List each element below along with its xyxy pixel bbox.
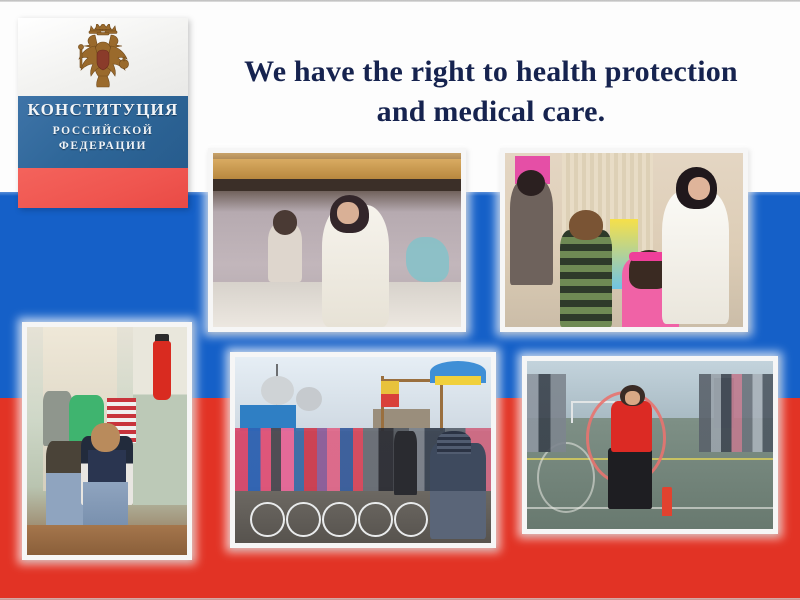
- right-spectators: [699, 374, 773, 451]
- bicycle-wheel: [358, 502, 393, 538]
- foreground-child-jacket: [430, 443, 486, 540]
- boy-head: [569, 210, 602, 240]
- child-grey-top: [43, 391, 72, 446]
- fire-extinguisher-icon: [153, 341, 171, 400]
- photo-children-exercising-hallway: [22, 322, 192, 560]
- background-woman: [510, 181, 553, 285]
- decorative-arch-banner: [435, 376, 481, 385]
- doctor-face: [688, 177, 709, 200]
- front-boy-head: [91, 423, 120, 453]
- bicycle-wheel: [322, 502, 357, 538]
- training-cone: [662, 487, 672, 516]
- slide-title: We have the right to health protection a…: [186, 52, 796, 131]
- photo-children-exercising-hallway-content: [27, 327, 187, 555]
- left-spectators: [527, 374, 566, 451]
- wooden-floor: [27, 525, 187, 555]
- bunk-bed-rail: [213, 159, 461, 179]
- book-cover-title: КОНСТИТУЦИЯ РОССИЙСКОЙ ФЕДЕРАЦИИ: [18, 100, 188, 155]
- doctor-white-coat: [662, 191, 729, 323]
- jumper-trousers: [608, 448, 652, 508]
- blanket: [406, 237, 448, 282]
- bunk-bed-shadow: [213, 179, 461, 191]
- traffic-sign: [381, 381, 399, 407]
- child-head: [273, 210, 298, 234]
- boy-striped-sweater: [560, 230, 612, 327]
- photo-boy-jumping-rope-gym-content: [527, 361, 773, 529]
- slide-title-line-2: and medical care.: [186, 92, 796, 132]
- book-title-line-1: КОНСТИТУЦИЯ: [18, 100, 188, 120]
- satellite-dish-large: [261, 376, 294, 406]
- constitution-book-image: КОНСТИТУЦИЯ РОССИЙСКОЙ ФЕДЕРАЦИИ: [18, 18, 188, 208]
- book-title-line-3: ФЕДЕРАЦИИ: [18, 139, 188, 155]
- photo-doctor-examining-children-content: [505, 153, 743, 327]
- photo-ward-nurse-child: [208, 148, 466, 332]
- book-cover-red-stripe: [18, 168, 188, 208]
- bicycle-wheel: [286, 502, 321, 538]
- presentation-slide: We have the right to health protection a…: [0, 0, 800, 600]
- photo-boy-jumping-rope-gym: [522, 356, 778, 534]
- book-title-line-2: РОССИЙСКОЙ: [18, 124, 188, 140]
- front-boy-shirt: [88, 450, 126, 482]
- photo-children-with-bicycles: [230, 352, 496, 548]
- slide-title-line-1: We have the right to health protection: [186, 52, 796, 92]
- russian-coat-of-arms-icon: [69, 24, 137, 90]
- court-centre-circle: [537, 442, 595, 513]
- foreground-child-hat: [437, 431, 470, 453]
- photo-ward-nurse-child-content: [213, 153, 461, 327]
- photo-children-with-bicycles-content: [235, 357, 491, 543]
- photo-doctor-examining-children: [500, 148, 748, 332]
- jumper-face: [625, 391, 640, 404]
- jumper-red-tshirt: [611, 401, 653, 451]
- satellite-dish-small: [296, 387, 322, 411]
- slide-top-border: [0, 0, 800, 2]
- nurse-face: [337, 202, 359, 225]
- adult-supervisor: [394, 431, 417, 494]
